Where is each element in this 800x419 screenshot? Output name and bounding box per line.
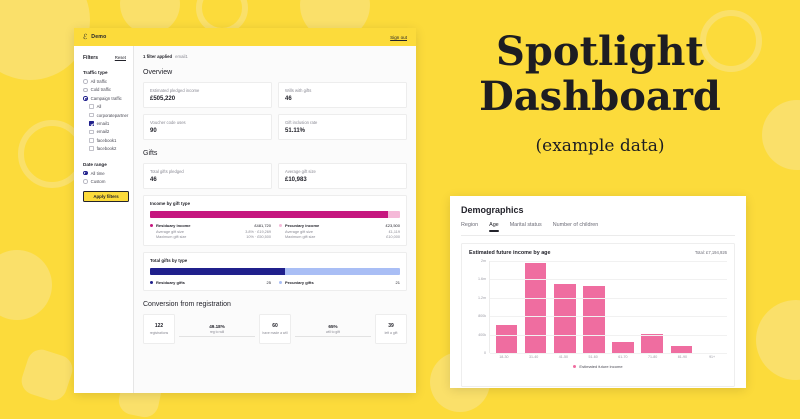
app-window: ℰ Demo Sign out Filters Reset Traffic ty… <box>74 28 416 393</box>
filter-option-all-time[interactable]: All time <box>83 171 126 176</box>
detail-value: 3.8% · £19,269 <box>245 230 271 234</box>
filter-option-facebook2[interactable]: facebook2 <box>89 146 126 151</box>
metric-card-gift-inclusion-rate: Gift inclusion rate 51.11% <box>278 114 407 140</box>
bar-segment-residuary <box>150 268 285 275</box>
gifts-cards-row: Total gifts pledged 46 Average gift size… <box>143 163 407 189</box>
bar-segment-pecuniary <box>388 211 400 218</box>
filter-option-email2[interactable]: email2 <box>89 129 126 134</box>
income-by-gift-type-card: Income by gift type Residuary income £48… <box>143 195 407 246</box>
headline-subtitle: (example data) <box>428 136 772 156</box>
headline-line-2: Dashboard <box>428 75 772 120</box>
overview-cards-row-2: Voucher code uses 90 Gift inclusion rate… <box>143 114 407 140</box>
chart-bar-column <box>696 261 725 353</box>
legend-label: Pecuniary gifts <box>285 280 393 285</box>
chart-bar <box>554 284 576 353</box>
tab-age[interactable]: Age <box>489 222 499 231</box>
legend-column-residuary: Residuary gifts 25 <box>150 280 271 285</box>
funnel-value: 60 <box>272 323 278 329</box>
x-tick-label: 91+ <box>697 355 727 359</box>
legend-color-dot <box>150 224 153 227</box>
funnel-card-have-made-a-will: 60 have made a will <box>259 314 291 344</box>
metric-label: Average gift size <box>285 169 400 174</box>
filter-option-label: facebook1 <box>97 138 117 143</box>
chart-y-axis: 0400k800k1.2m1.6m2m <box>469 261 489 353</box>
checkbox-icon[interactable] <box>89 146 94 151</box>
chart-bar-column <box>521 261 550 353</box>
filter-applied-count: 1 filter applied <box>143 54 172 59</box>
filter-option-label: email1 <box>97 121 110 126</box>
y-tick-label: 1.6m <box>478 277 486 281</box>
metric-label: Estimated pledged income <box>150 88 265 93</box>
chart-title: Income by gift type <box>150 201 400 206</box>
demographics-card: Demographics Region Age Marital status N… <box>450 196 746 388</box>
legend-detail-row: Average gift size £1,119 <box>279 230 400 234</box>
y-tick-label: 2m <box>481 259 486 263</box>
metric-value: £505,220 <box>150 96 265 102</box>
metric-label: Voucher code uses <box>150 120 265 125</box>
headline-title: Spotlight Dashboard <box>428 30 772 120</box>
filter-option-corporatepartner[interactable]: corporatepartner <box>89 113 126 118</box>
chart-bar-column <box>609 261 638 353</box>
legend-color-dot <box>279 281 282 284</box>
filter-group-traffic-type: Traffic type All traffic Cold traffic Ca… <box>83 70 126 151</box>
app-topbar: ℰ Demo Sign out <box>74 28 416 46</box>
chart-bar-column <box>492 261 521 353</box>
detail-key: Maximum gift size <box>285 235 315 239</box>
funnel-arrow-icon <box>295 336 371 337</box>
income-stacked-bar <box>150 211 400 218</box>
x-tick-label: 31-40 <box>519 355 549 359</box>
bar-segment-residuary <box>150 211 388 218</box>
x-tick-label: 61-70 <box>608 355 638 359</box>
tab-region[interactable]: Region <box>461 222 478 231</box>
filter-option-label: Campaign traffic <box>91 96 122 101</box>
bar-segment-pecuniary <box>285 268 400 275</box>
gridline <box>490 353 727 354</box>
filter-option-label: facebook2 <box>97 146 117 151</box>
metric-label: Gift inclusion rate <box>285 120 400 125</box>
legend-value: 25 <box>267 280 271 285</box>
tab-number-of-children[interactable]: Number of children <box>553 222 599 231</box>
chart-bar-column <box>667 261 696 353</box>
checkbox-icon[interactable] <box>89 130 94 135</box>
overview-cards-row-1: Estimated pledged income £505,220 Wills … <box>143 82 407 108</box>
funnel-value: 122 <box>155 323 163 329</box>
legend-label: Residuary income <box>156 223 251 228</box>
filters-sidebar: Filters Reset Traffic type All traffic C… <box>74 46 134 393</box>
legend-label: Residuary gifts <box>156 280 264 285</box>
funnel-step-will-to-gift: 65% will to gift <box>291 314 375 344</box>
brand-name: Demo <box>91 34 106 40</box>
gridline <box>490 316 727 317</box>
headline-line-1: Spotlight <box>428 30 772 75</box>
filter-option-email1[interactable]: email1 <box>89 121 126 126</box>
radio-selected-icon[interactable] <box>83 171 88 176</box>
sign-out-link[interactable]: Sign out <box>390 35 407 40</box>
filter-option-cold-traffic[interactable]: Cold traffic <box>83 87 126 92</box>
x-tick-label: 51-60 <box>578 355 608 359</box>
overview-title: Overview <box>143 69 407 76</box>
chart-x-axis: 18-3031-4041-5051-6061-7071-8081-9091+ <box>469 355 727 359</box>
chart-bar <box>612 342 634 354</box>
radio-icon[interactable] <box>83 79 88 84</box>
chart-bar <box>496 325 518 353</box>
chart-bars <box>490 261 727 353</box>
checkbox-icon[interactable] <box>89 113 94 118</box>
filter-option-label: Cold traffic <box>91 87 111 92</box>
detail-value: £1,119 <box>389 230 400 234</box>
filters-title: Filters <box>83 55 98 61</box>
legend-value: £481,720 <box>254 223 271 228</box>
metric-card-total-gifts-pledged: Total gifts pledged 46 <box>143 163 272 189</box>
y-tick-label: 1.2m <box>478 296 486 300</box>
funnel-step-reg-to-will: 49.18% reg to will <box>175 314 259 344</box>
gridline <box>490 335 727 336</box>
detail-key: Average gift size <box>156 230 184 234</box>
y-tick-label: 800k <box>478 314 486 318</box>
legend-label: Pecuniary income <box>285 223 383 228</box>
tab-marital-status[interactable]: Marital status <box>510 222 542 231</box>
chart-bar <box>525 263 547 353</box>
gridline <box>490 279 727 280</box>
income-legend: Residuary income £481,720 Average gift s… <box>150 223 400 240</box>
checkbox-checked-icon[interactable] <box>89 121 94 126</box>
metric-label: Wills with gifts <box>285 88 400 93</box>
chart-bar <box>641 334 663 353</box>
filter-applied-banner: 1 filter appliedemail1 <box>143 54 407 59</box>
filter-option-custom[interactable]: Custom <box>83 179 126 184</box>
filter-option-label: All <box>97 104 102 109</box>
funnel-arrow-icon <box>179 336 255 337</box>
conversion-title: Conversion from registration <box>143 301 407 308</box>
x-tick-label: 71-80 <box>638 355 668 359</box>
gifts-legend: Residuary gifts 25 Pecuniary gifts 21 <box>150 280 400 285</box>
x-tick-label: 81-90 <box>668 355 698 359</box>
gridline <box>490 298 727 299</box>
funnel-label: left a gift <box>385 331 398 335</box>
legend-column-pecuniary: Pecuniary income £23,500 Average gift si… <box>279 223 400 240</box>
chart-bar-column <box>550 261 579 353</box>
filter-option-all-traffic[interactable]: All traffic <box>83 79 126 84</box>
funnel-value: 65% <box>328 324 337 329</box>
chart-bar <box>671 346 693 353</box>
detail-key: Maximum gift size <box>156 235 186 239</box>
main-content: 1 filter appliedemail1 Overview Estimate… <box>134 46 416 393</box>
legend-color-dot <box>573 365 576 368</box>
chart-plot-area: 0400k800k1.2m1.6m2m <box>469 261 727 353</box>
filter-option-label: corporatepartner <box>97 113 129 118</box>
funnel-label: registrations <box>150 331 168 335</box>
filter-option-label: Custom <box>91 179 106 184</box>
gifts-stacked-bar <box>150 268 400 275</box>
metric-value: £10,983 <box>285 177 400 183</box>
funnel-card-registrations: 122 registrations <box>143 314 175 344</box>
chart-header: Estimated future income by age Total: £7… <box>469 250 727 256</box>
detail-value: £10,000 <box>386 235 400 239</box>
detail-value: 10% · £50,500 <box>246 235 271 239</box>
chart-plot <box>489 261 727 353</box>
brand: ℰ Demo <box>83 34 106 41</box>
metric-card-wills-with-gifts: Wills with gifts 46 <box>278 82 407 108</box>
x-tick-label: 41-50 <box>549 355 579 359</box>
radio-icon[interactable] <box>83 88 88 93</box>
chart-bar <box>583 286 605 353</box>
filter-applied-value: email1 <box>175 54 188 59</box>
metric-value: 46 <box>150 177 265 183</box>
filter-group-label: Date range <box>83 162 126 167</box>
funnel-card-left-a-gift: 39 left a gift <box>375 314 407 344</box>
metric-value: 46 <box>285 96 400 102</box>
chart-title: Estimated future income by age <box>469 250 550 256</box>
funnel-value: 39 <box>388 323 394 329</box>
legend-value: 21 <box>396 280 400 285</box>
filter-group-label: Traffic type <box>83 70 126 75</box>
chart-total-annotation: Total: £7,194,926 <box>695 250 727 255</box>
demographics-tabs: Region Age Marital status Number of chil… <box>461 222 735 236</box>
metric-card-estimated-pledged-income: Estimated pledged income £505,220 <box>143 82 272 108</box>
legend-value: £23,500 <box>386 223 400 228</box>
filter-option-campaign-traffic[interactable]: Campaign traffic <box>83 96 126 101</box>
detail-key: Average gift size <box>285 230 313 234</box>
age-income-chart: Estimated future income by age Total: £7… <box>461 243 735 387</box>
y-tick-label: 0 <box>484 351 486 355</box>
total-gifts-by-type-card: Total gifts by type Residuary gifts 25 P… <box>143 252 407 291</box>
reset-filters-link[interactable]: Reset <box>115 55 126 60</box>
metric-label: Total gifts pledged <box>150 169 265 174</box>
legend-detail-row: Maximum gift size £10,000 <box>279 235 400 239</box>
chart-bar-column <box>638 261 667 353</box>
conversion-funnel: 122 registrations 49.18% reg to will 60 … <box>143 314 407 344</box>
funnel-value: 49.18% <box>209 324 225 329</box>
gridline <box>490 261 727 262</box>
legend-column-pecuniary: Pecuniary gifts 21 <box>279 280 400 285</box>
x-tick-label: 18-30 <box>489 355 519 359</box>
logo-icon: ℰ <box>83 34 87 41</box>
legend-detail-row: Average gift size 3.8% · £19,269 <box>150 230 271 234</box>
filter-option-all[interactable]: All <box>89 104 126 109</box>
filters-header: Filters Reset <box>83 55 126 61</box>
metric-card-average-gift-size: Average gift size £10,983 <box>278 163 407 189</box>
checkbox-icon[interactable] <box>89 138 94 143</box>
y-tick-label: 400k <box>478 333 486 337</box>
filter-option-label: All time <box>91 171 105 176</box>
demographics-title: Demographics <box>461 205 735 215</box>
legend-column-residuary: Residuary income £481,720 Average gift s… <box>150 223 271 240</box>
filter-option-label: email2 <box>97 129 110 134</box>
funnel-label: will to gift <box>326 330 340 334</box>
gifts-title: Gifts <box>143 150 407 157</box>
legend-color-dot <box>279 224 282 227</box>
metric-card-voucher-code-uses: Voucher code uses 90 <box>143 114 272 140</box>
chart-legend: Estimated future income <box>469 364 727 369</box>
legend-color-dot <box>150 281 153 284</box>
checkbox-icon[interactable] <box>89 104 94 109</box>
radio-icon[interactable] <box>83 179 88 184</box>
apply-filters-button[interactable]: Apply filters <box>83 191 129 202</box>
filter-option-facebook1[interactable]: facebook1 <box>89 138 126 143</box>
radio-selected-icon[interactable] <box>83 96 88 101</box>
metric-value: 90 <box>150 128 265 134</box>
metric-value: 51.11% <box>285 128 400 134</box>
legend-detail-row: Maximum gift size 10% · £50,500 <box>150 235 271 239</box>
filter-group-date-range: Date range All time Custom <box>83 162 126 184</box>
funnel-label: have made a will <box>262 331 287 335</box>
legend-label: Estimated future income <box>579 364 622 369</box>
filter-option-label: All traffic <box>91 79 107 84</box>
chart-bar-column <box>579 261 608 353</box>
funnel-label: reg to will <box>210 330 224 334</box>
chart-title: Total gifts by type <box>150 258 400 263</box>
